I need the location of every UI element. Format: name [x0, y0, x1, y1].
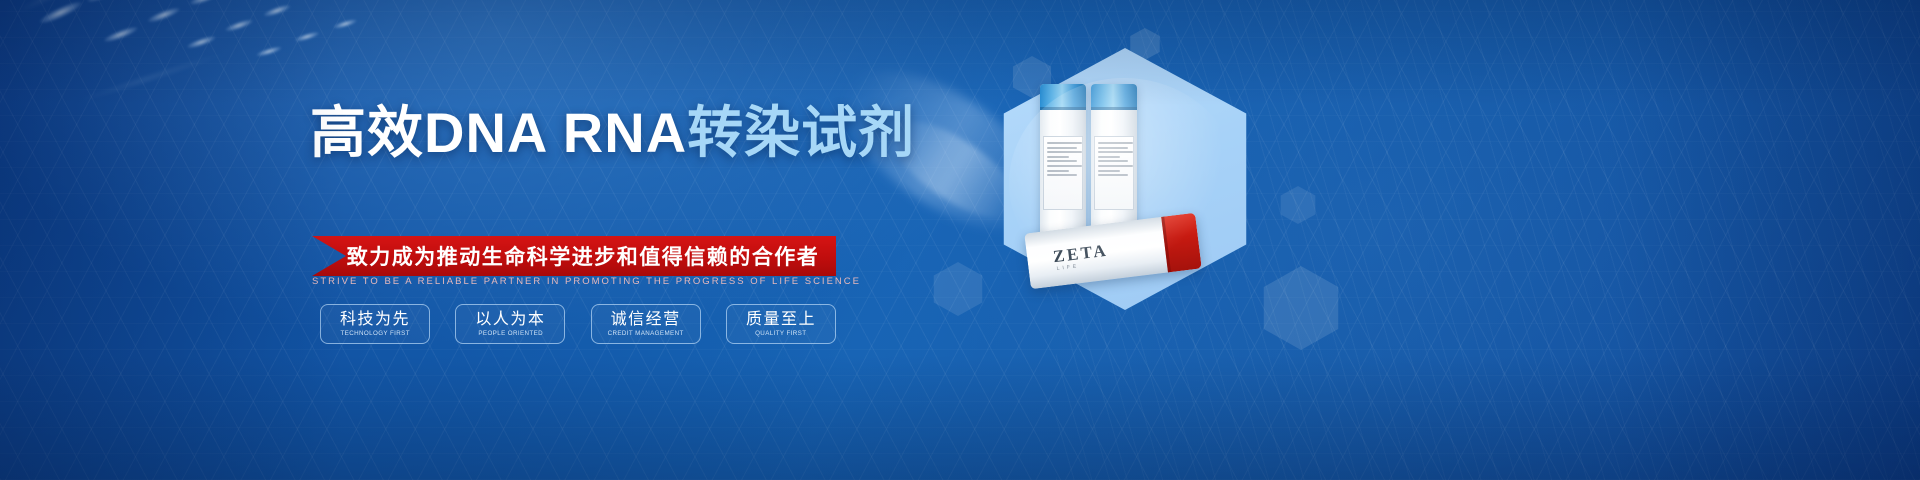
pill-label-en: CREDIT MANAGEMENT: [608, 330, 684, 338]
ribbon-tagline: 致力成为推动生命科学进步和值得信赖的合作者: [330, 236, 836, 276]
title-part-accent: 转染试剂: [687, 101, 915, 164]
vignette-overlay: [0, 0, 1920, 480]
pill-label-cn: 诚信经营: [611, 311, 681, 328]
hexagon-decor-5: [1278, 186, 1318, 224]
feature-pill-technology-first[interactable]: 科技为先 TECHNOLOGY FIRST: [320, 304, 430, 344]
product-image: ZETA LIFE: [985, 48, 1265, 310]
feature-pill-group: 科技为先 TECHNOLOGY FIRST 以人为本 PEOPLE ORIENT…: [320, 304, 836, 344]
hexagon-decor-4: [1258, 266, 1344, 350]
feature-pill-people-oriented[interactable]: 以人为本 PEOPLE ORIENTED: [455, 304, 565, 344]
feature-pill-quality-first[interactable]: 质量至上 QUALITY FIRST: [726, 304, 836, 344]
hexagon-decor-3: [930, 262, 986, 316]
promo-banner: 高效DNA RNA转染试剂 致力成为推动生命科学进步和值得信赖的合作者 STRI…: [0, 0, 1920, 480]
lattice-texture: [0, 0, 1920, 480]
product-vial-left: [1040, 84, 1086, 244]
feature-pill-credit-management[interactable]: 诚信经营 CREDIT MANAGEMENT: [591, 304, 701, 344]
pill-label-en: QUALITY FIRST: [755, 330, 806, 338]
ribbon-subtitle-english: STRIVE TO BE A RELIABLE PARTNER IN PROMO…: [312, 276, 836, 287]
page-title: 高效DNA RNA转染试剂: [310, 104, 915, 162]
pill-label-en: PEOPLE ORIENTED: [478, 330, 543, 338]
title-part-primary: 高效DNA RNA: [310, 101, 687, 164]
pill-label-cn: 科技为先: [340, 311, 410, 328]
pill-label-en: TECHNOLOGY FIRST: [340, 330, 409, 338]
pill-label-cn: 质量至上: [746, 311, 816, 328]
pill-label-cn: 以人为本: [475, 311, 545, 328]
